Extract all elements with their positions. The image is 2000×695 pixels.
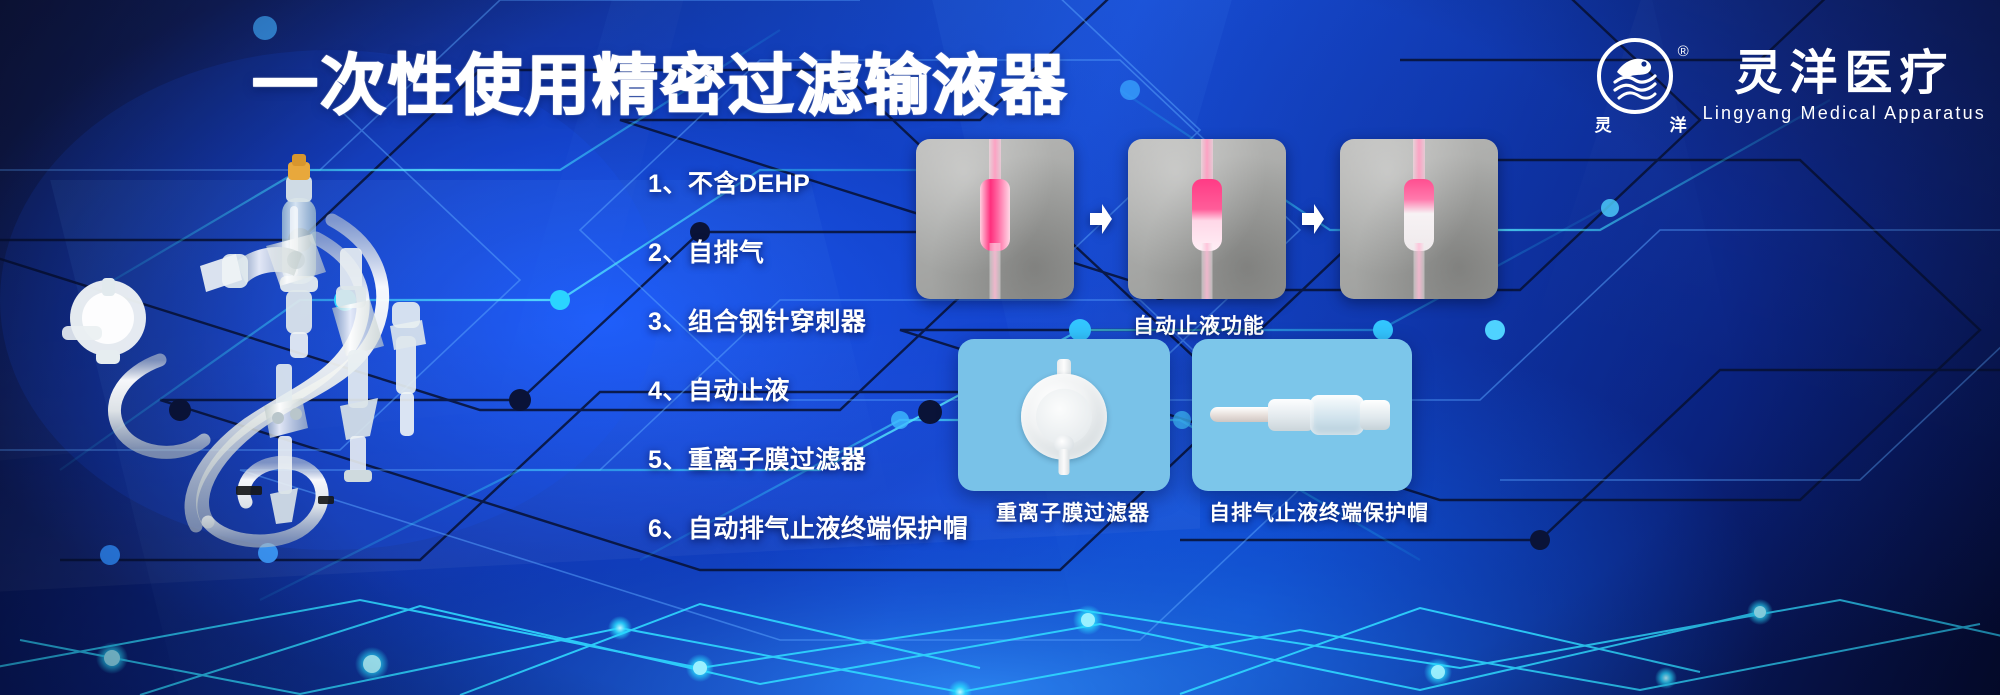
auto-stop-demo-caption: 自动止液功能 (1133, 310, 1265, 340)
cap-product-caption: 自排气止液终端保护帽 (1209, 497, 1429, 527)
auto-stop-demo-row (916, 139, 1498, 299)
emblem-cjk-pair: 灵 洋 (1595, 111, 1687, 136)
demo-frame-1 (916, 139, 1074, 299)
banner-title: 一次性使用精密过滤输液器 (252, 46, 1032, 124)
feature-item: 3、组合钢针穿刺器 (648, 310, 978, 335)
feature-item: 4、自动止液 (648, 379, 978, 404)
brand-logo: ® 灵 洋 灵洋医疗 Lingyang Medical Apparatus (1595, 36, 1986, 136)
filter-product-card (958, 339, 1170, 491)
demo-frame-3 (1340, 139, 1498, 299)
cap-product-card (1192, 339, 1412, 491)
banner-stage: 一次性使用精密过滤输液器 ® 灵 洋 灵洋医疗 Lingyang Medical… (0, 0, 2000, 695)
filter-product-caption: 重离子膜过滤器 (996, 497, 1150, 527)
arrow-right-icon (1086, 199, 1116, 239)
brand-name-cn: 灵洋医疗 (1734, 48, 1954, 100)
lingyang-wave-emblem-icon: ® 灵 洋 (1595, 36, 1687, 136)
emblem-cjk-right: 洋 (1670, 111, 1687, 136)
brand-name-en: Lingyang Medical Apparatus (1703, 103, 1986, 124)
brand-text-block: 灵洋医疗 Lingyang Medical Apparatus (1703, 48, 1986, 125)
arrow-right-icon (1298, 199, 1328, 239)
registered-trademark-icon: ® (1678, 44, 1689, 59)
feature-item: 6、自动排气止液终端保护帽 (648, 517, 978, 542)
product-photo (40, 150, 680, 550)
emblem-cjk-left: 灵 (1595, 111, 1612, 136)
demo-frame-2 (1128, 139, 1286, 299)
feature-item: 5、重离子膜过滤器 (648, 448, 978, 473)
